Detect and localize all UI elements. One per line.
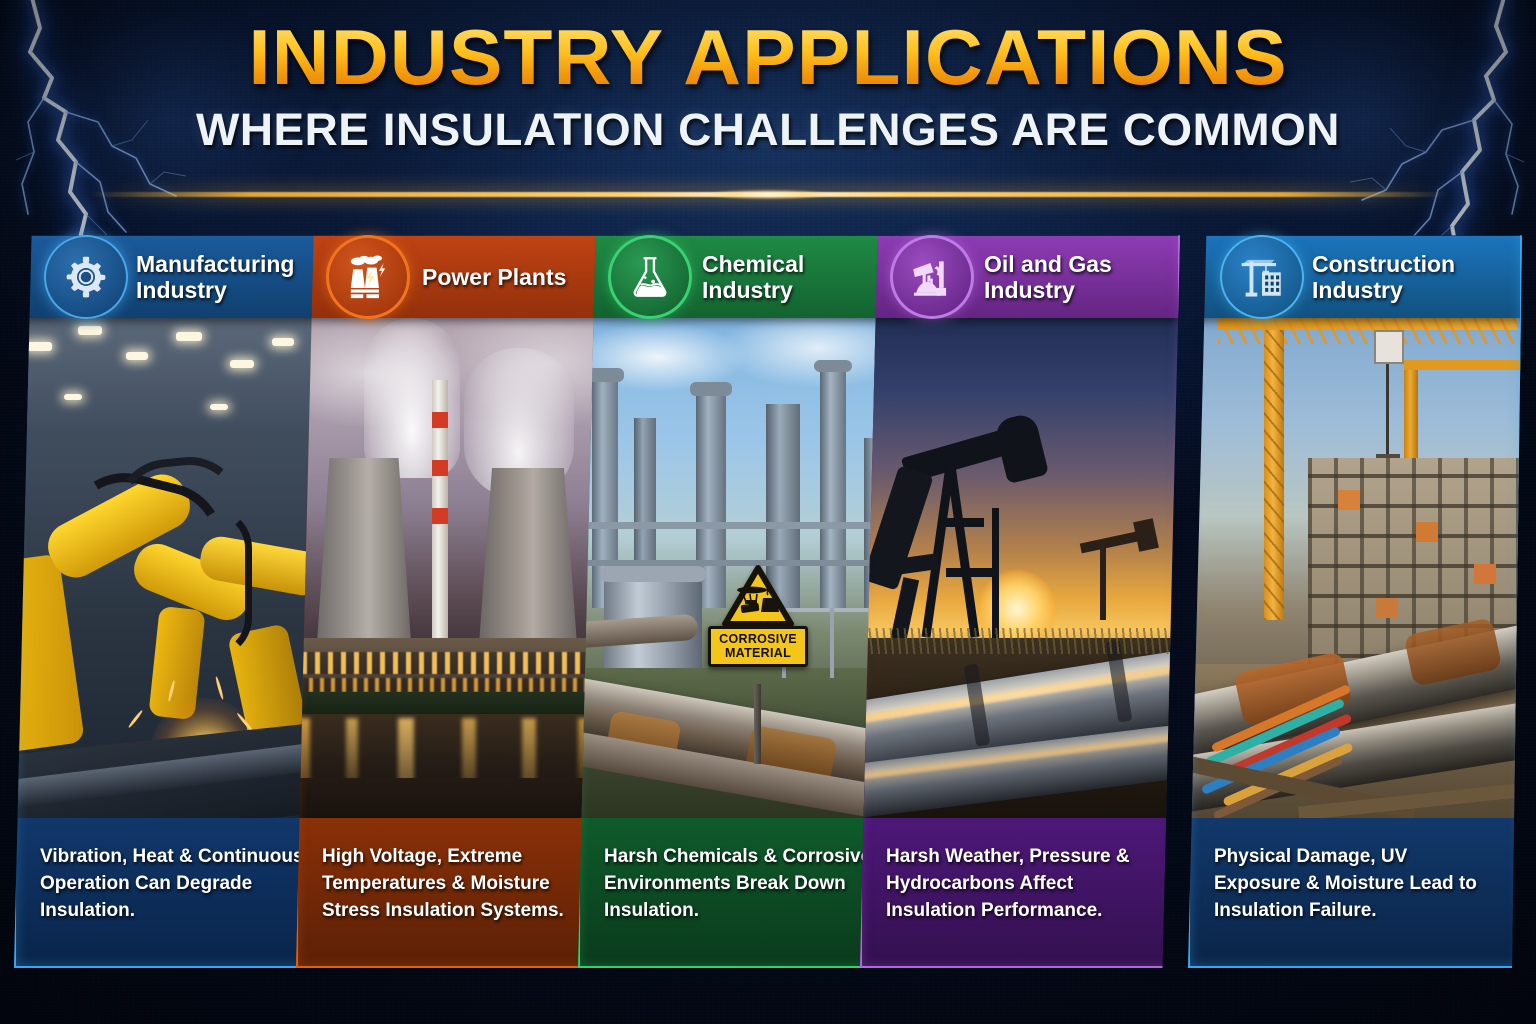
- column-oil-and-gas[interactable]: Oil and Gas Industry Harsh Weather, Pres…: [860, 228, 1180, 968]
- caption-oil-and-gas: Harsh Weather, Pressure & Hydrocarbons A…: [860, 818, 1180, 968]
- caption-text: High Voltage, Extreme Temperatures & Moi…: [322, 846, 564, 921]
- corrosive-material-sign: CORROSIVE MATERIAL: [708, 564, 808, 667]
- caption-text: Harsh Chemicals & Corrosive Environments…: [604, 846, 871, 921]
- column-power-plants[interactable]: Power Plants High Voltage, Extreme Tempe…: [296, 228, 616, 968]
- flask-icon: [608, 235, 692, 319]
- caption-text: Vibration, Heat & Continuous Operation C…: [40, 846, 304, 921]
- sign-line2: MATERIAL: [711, 646, 805, 660]
- sign-label: CORROSIVE MATERIAL: [708, 626, 808, 667]
- industry-columns: Manufacturing Industry Vibration, Heat &…: [0, 228, 1536, 968]
- column-construction[interactable]: Construction Industry Physical Damage, U…: [1188, 228, 1522, 968]
- header-label-line1: Manufacturing: [136, 251, 294, 277]
- caption-power-plants: High Voltage, Extreme Temperatures & Moi…: [296, 818, 616, 968]
- header-label-line1: Power Plants: [422, 264, 566, 290]
- photo-power-plants: [296, 318, 616, 818]
- photo-chemical: CORROSIVE MATERIAL: [578, 318, 898, 818]
- caption-text: Harsh Weather, Pressure & Hydrocarbons A…: [886, 846, 1130, 921]
- header-label-line2: Industry: [702, 277, 804, 303]
- caption-construction: Physical Damage, UV Exposure & Moisture …: [1188, 818, 1522, 968]
- page-title: INDUSTRY APPLICATIONS: [0, 18, 1536, 96]
- page-subtitle: WHERE INSULATION CHALLENGES ARE COMMON: [0, 104, 1536, 156]
- header-label-line2: Industry: [1312, 277, 1455, 303]
- caption-chemical: Harsh Chemicals & Corrosive Environments…: [578, 818, 898, 968]
- column-chemical[interactable]: CORROSIVE MATERIAL Chemical Industry H: [578, 228, 898, 968]
- header-block: INDUSTRY APPLICATIONS WHERE INSULATION C…: [0, 18, 1536, 156]
- header-label-line1: Oil and Gas: [984, 251, 1112, 277]
- caption-manufacturing: Vibration, Heat & Continuous Operation C…: [14, 818, 334, 968]
- caption-text: Physical Damage, UV Exposure & Moisture …: [1214, 846, 1477, 921]
- header-label-line1: Chemical: [702, 251, 804, 277]
- infographic-canvas: INDUSTRY APPLICATIONS WHERE INSULATION C…: [0, 0, 1536, 1024]
- header-label-line2: Industry: [984, 277, 1112, 303]
- crane-icon: [1220, 235, 1304, 319]
- photo-construction: [1188, 318, 1522, 818]
- header-label-line1: Construction: [1312, 251, 1455, 277]
- sign-line1: CORROSIVE: [711, 632, 805, 646]
- photo-oil-and-gas: [860, 318, 1180, 818]
- column-manufacturing[interactable]: Manufacturing Industry Vibration, Heat &…: [14, 228, 334, 968]
- power-plant-icon: [326, 235, 410, 319]
- gear-icon: [44, 235, 128, 319]
- photo-manufacturing: [14, 318, 334, 818]
- header-label-line2: Industry: [136, 277, 294, 303]
- title-divider-flare: [708, 190, 828, 199]
- pumpjack-icon: [890, 235, 974, 319]
